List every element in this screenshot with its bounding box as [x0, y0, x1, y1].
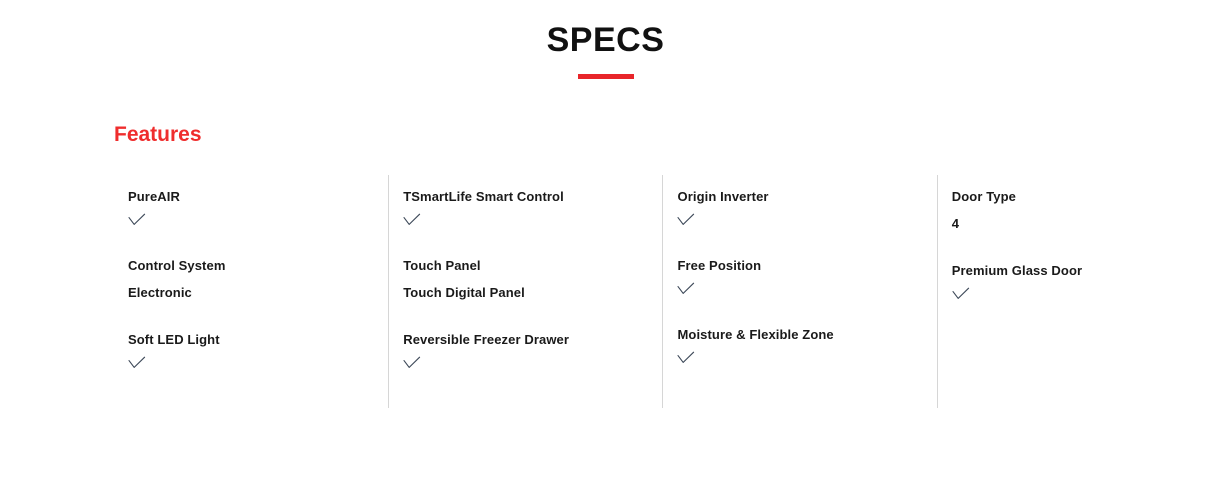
- check-icon: [403, 356, 662, 372]
- check-icon: [677, 351, 936, 367]
- check-icon: [128, 213, 388, 229]
- page-title: SPECS: [0, 22, 1211, 58]
- spec-column: Door Type4Premium Glass Door: [937, 175, 1211, 408]
- spec-label: Premium Glass Door: [952, 261, 1211, 281]
- spec-label: Touch Panel: [403, 256, 662, 276]
- check-icon: [677, 282, 936, 298]
- spec-item: Reversible Freezer Drawer: [403, 330, 662, 372]
- spec-label: Door Type: [952, 187, 1211, 207]
- spec-item: PureAIR: [128, 187, 388, 229]
- spec-item: Free Position: [677, 256, 936, 298]
- spec-label: Reversible Freezer Drawer: [403, 330, 662, 350]
- spec-columns: PureAIRControl SystemElectronicSoft LED …: [114, 175, 1211, 408]
- spec-item: Moisture & Flexible Zone: [677, 325, 936, 367]
- spec-item: Door Type4: [952, 187, 1211, 234]
- spec-value: Electronic: [128, 283, 388, 303]
- section-title-features: Features: [114, 123, 1211, 147]
- spec-item: Premium Glass Door: [952, 261, 1211, 303]
- title-underline-rule: [578, 74, 634, 79]
- spec-label: Control System: [128, 256, 388, 276]
- check-icon: [677, 213, 936, 229]
- specs-section: Features PureAIRControl SystemElectronic…: [0, 123, 1211, 408]
- spec-label: Free Position: [677, 256, 936, 276]
- spec-item: Soft LED Light: [128, 330, 388, 372]
- spec-label: Soft LED Light: [128, 330, 388, 350]
- spec-item: TSmartLife Smart Control: [403, 187, 662, 229]
- spec-item: Control SystemElectronic: [128, 256, 388, 303]
- spec-label: PureAIR: [128, 187, 388, 207]
- spec-column: PureAIRControl SystemElectronicSoft LED …: [114, 175, 388, 408]
- spec-value: 4: [952, 214, 1211, 234]
- spec-column: Origin InverterFree PositionMoisture & F…: [662, 175, 936, 408]
- page-header: SPECS: [0, 0, 1211, 79]
- check-icon: [952, 287, 1211, 303]
- spec-item: Touch PanelTouch Digital Panel: [403, 256, 662, 303]
- spec-label: Origin Inverter: [677, 187, 936, 207]
- check-icon: [403, 213, 662, 229]
- spec-column: TSmartLife Smart ControlTouch PanelTouch…: [388, 175, 662, 408]
- check-icon: [128, 356, 388, 372]
- spec-label: Moisture & Flexible Zone: [677, 325, 936, 345]
- spec-label: TSmartLife Smart Control: [403, 187, 662, 207]
- spec-item: Origin Inverter: [677, 187, 936, 229]
- spec-value: Touch Digital Panel: [403, 283, 662, 303]
